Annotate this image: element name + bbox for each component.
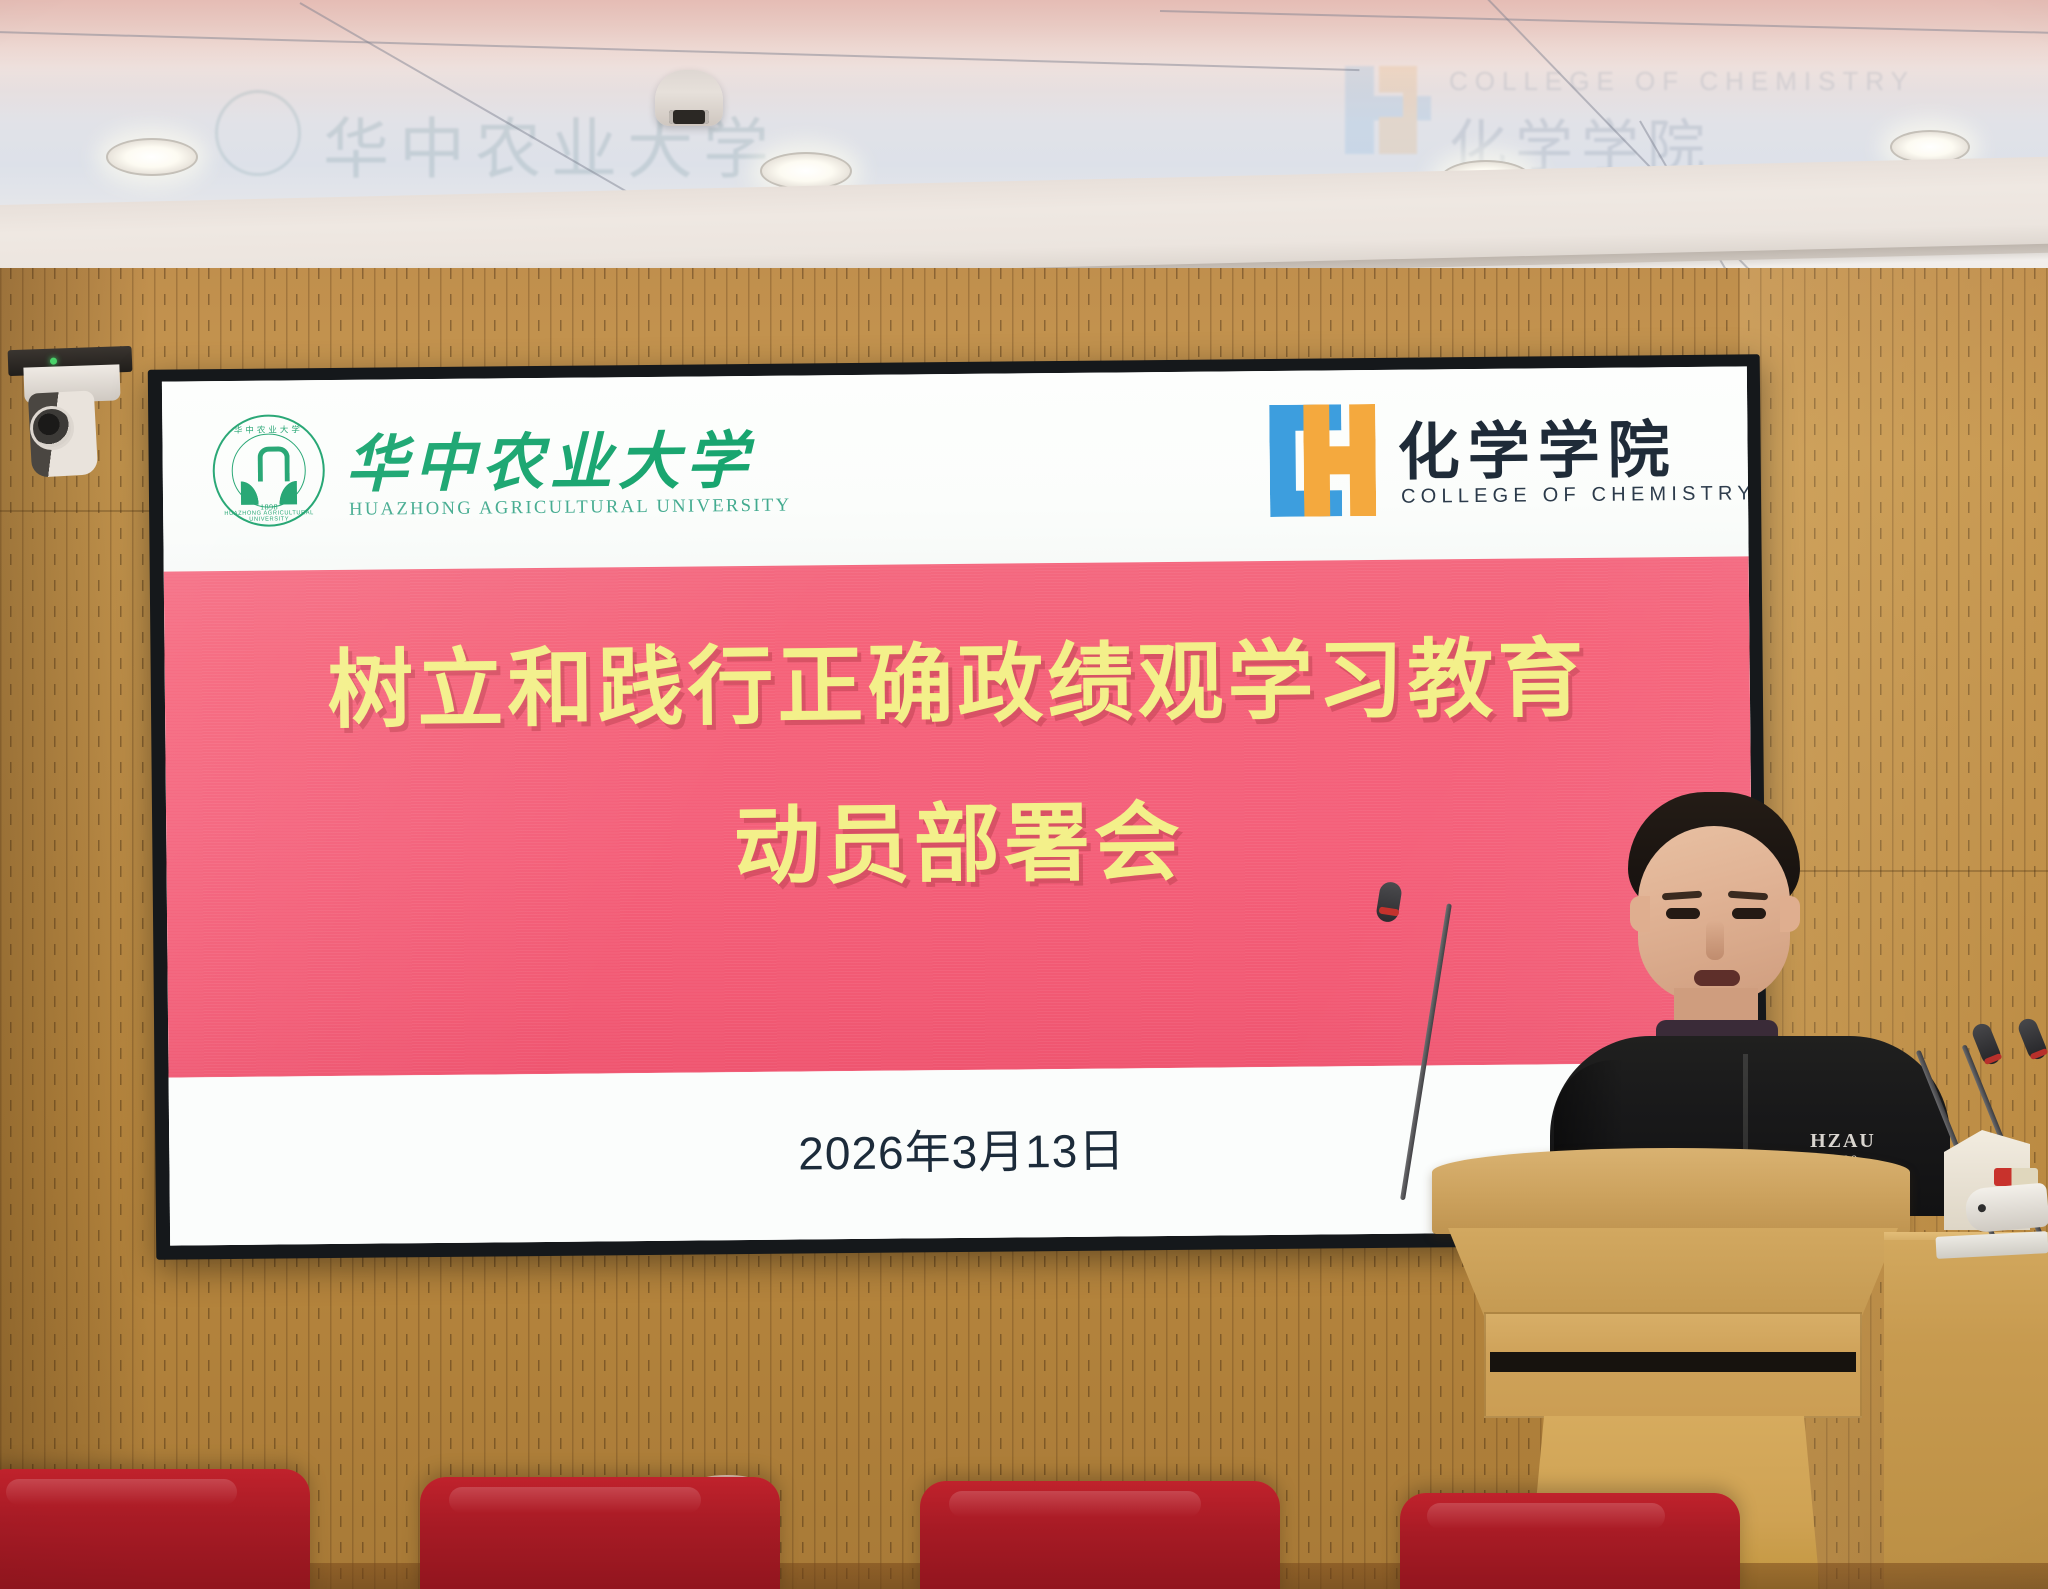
university-name-cn: 华中农业大学 (345, 410, 754, 504)
wall-ghost-college-en: COLLEGE OF CHEMISTRY (1449, 66, 1915, 97)
jacket-logo-line-1: HZAU (1790, 1130, 1896, 1152)
presenter-nose (1706, 920, 1724, 960)
camera-brand-label (77, 397, 99, 432)
presentation-slide: 华中农业大学 1898 HUAZHONG AGRICULTURAL UNIVER… (162, 366, 1755, 1245)
presenter-mouth (1694, 970, 1740, 986)
lectern-apron (1448, 1228, 1898, 1316)
smoke-detector-icon (655, 70, 723, 126)
wall-ghost-ch-mark-icon (1345, 66, 1431, 154)
conference-phone-icon[interactable] (1964, 1183, 2048, 1234)
slide-title-line-1: 树立和践行正确政绩观学习教育 (164, 606, 1750, 746)
college-logo: 化学学院 COLLEGE OF CHEMISTRY (1269, 395, 1700, 527)
university-name-en: HUAZHONG AGRICULTURAL UNIVERSITY (349, 496, 792, 521)
presenter-ear-left (1630, 896, 1650, 932)
projection-screen[interactable]: 华中农业大学 1898 HUAZHONG AGRICULTURAL UNIVER… (148, 354, 1768, 1259)
auditorium-seat (920, 1481, 1280, 1589)
seat-highlight (949, 1491, 1201, 1517)
university-seal-icon: 华中农业大学 1898 HUAZHONG AGRICULTURAL UNIVER… (212, 414, 325, 527)
presenter-ear-right (1780, 896, 1800, 932)
lectern-top (1432, 1148, 1910, 1234)
screen-display-area: 华中农业大学 1898 HUAZHONG AGRICULTURAL UNIVER… (162, 366, 1755, 1245)
ceiling: 华中农业大学 COLLEGE OF CHEMISTRY 化学学院 (0, 0, 2048, 300)
seat-highlight (6, 1479, 237, 1505)
wood-panel-seam (0, 510, 152, 512)
slide-header-band: 华中农业大学 1898 HUAZHONG AGRICULTURAL UNIVER… (162, 366, 1749, 571)
auditorium-seat (0, 1469, 310, 1589)
lectern-accent-stripe (1490, 1352, 1856, 1372)
auditorium-seat (1400, 1493, 1740, 1589)
university-logo: 华中农业大学 1898 HUAZHONG AGRICULTURAL UNIVER… (212, 405, 683, 540)
seat-highlight (449, 1487, 701, 1513)
wall-ghost-seal-icon (215, 90, 301, 176)
presenter-eye-left (1666, 908, 1700, 919)
recessed-downlight (106, 138, 198, 176)
slide-title-line-2: 动员部署会 (166, 766, 1752, 906)
conference-room-photo: 华中农业大学 COLLEGE OF CHEMISTRY 化学学院 (0, 0, 2048, 1589)
seal-ring-en-text: HUAZHONG AGRICULTURAL UNIVERSITY (218, 510, 321, 523)
seal-arch-icon (241, 446, 298, 505)
presenter-eye-right (1732, 908, 1766, 919)
seat-highlight (1427, 1503, 1665, 1529)
auditorium-seat (420, 1477, 780, 1589)
ch-monogram-icon (1269, 404, 1376, 517)
side-table (1884, 1240, 2048, 1589)
college-name-en: COLLEGE OF CHEMISTRY (1401, 482, 1755, 508)
college-name-cn: 化学学院 (1397, 399, 1678, 492)
